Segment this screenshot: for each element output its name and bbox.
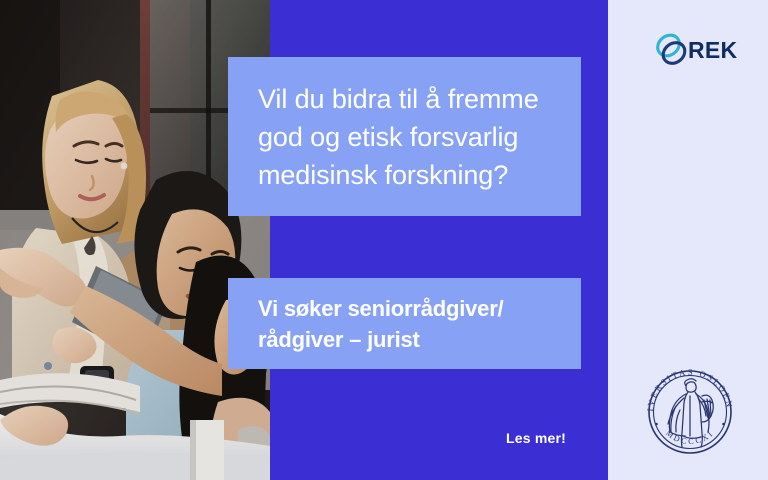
svg-text:UNIVERSITAS OSLOENSIS: UNIVERSITAS OSLOENSIS [640,362,735,412]
rek-wordmark: REK [688,37,737,64]
rek-logo[interactable]: REK [652,28,740,72]
rek-interlocking-loops-icon [652,30,692,70]
headline-card: Vil du bidra til å fremme god og etisk f… [228,57,581,216]
headline-text: Vil du bidra til å fremme god og etisk f… [258,80,551,194]
role-card: Vi søker seniorrådgiver/ rådgiver – juri… [228,278,581,369]
uio-seal-top-text: UNIVERSITAS OSLOENSIS [640,362,735,412]
uio-seal: UNIVERSITAS OSLOENSIS MDCCCXI [640,362,740,462]
read-more-link[interactable]: Les mer! [506,430,566,446]
recruitment-banner: Vil du bidra til å fremme god og etisk f… [0,0,768,480]
role-text: Vi søker seniorrådgiver/ rådgiver – juri… [258,293,551,355]
